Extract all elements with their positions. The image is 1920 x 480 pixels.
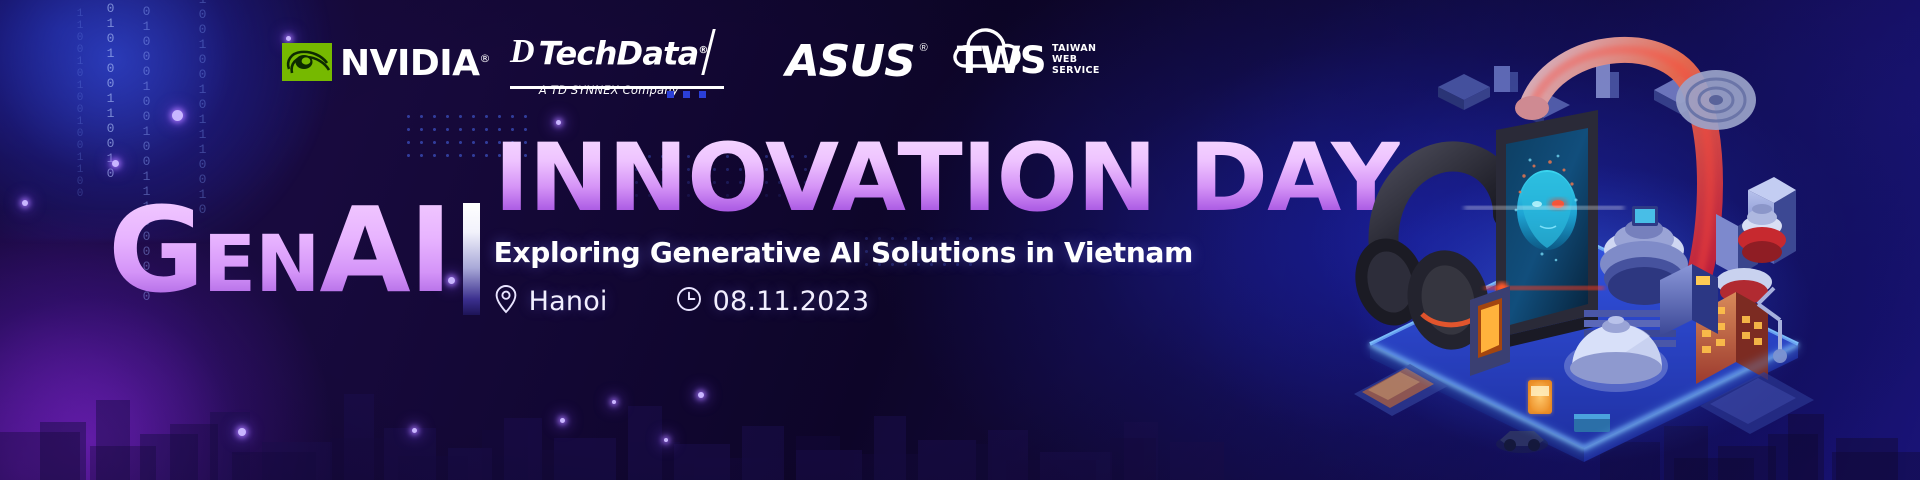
partner-logo-row: NVIDIA® D TechData® A TD SYNNEX Company … (282, 34, 1100, 97)
ai-isometric-scene (1344, 14, 1824, 474)
techdata-dots (667, 91, 706, 98)
techdata-monogram: D (510, 35, 533, 69)
sparkle (172, 110, 183, 121)
sparkle (412, 428, 417, 433)
nvidia-wordmark: NVIDIA® (340, 40, 490, 83)
event-subtitle: Exploring Generative AI Solutions in Vie… (494, 236, 1382, 269)
techdata-wordmark: TechData® (539, 34, 708, 71)
asus-logo[interactable]: ASUS ® (786, 40, 915, 84)
binary-stream-4: 1100101001001100 (74, 8, 85, 200)
sparkle (664, 438, 668, 442)
genai-brand-title: GENAI (108, 196, 451, 319)
genai-ai: AI (319, 181, 450, 319)
clock-icon (676, 286, 702, 317)
tws-tagline-line2: WEB (1052, 54, 1077, 65)
tws-tagline-line3: SERVICE (1052, 65, 1100, 76)
location-label: Hanoi (529, 286, 608, 317)
headline-block: GENAI INNOVATION DAY Exploring Generativ… (108, 134, 1381, 319)
tws-tagline-line1: TAIWAN (1052, 43, 1096, 54)
sparkle (22, 200, 28, 206)
vertical-divider (463, 203, 480, 315)
event-meta-row: Hanoi 08.11.2023 (494, 284, 1382, 319)
date-label: 08.11.2023 (713, 286, 870, 317)
sparkle (698, 392, 704, 398)
nvidia-registered-mark: ® (480, 52, 491, 65)
techdata-logo[interactable]: D TechData® A TD SYNNEX Company (510, 34, 722, 97)
location-pin-icon (494, 284, 518, 319)
techdata-underline (510, 86, 724, 89)
nvidia-logo[interactable]: NVIDIA® (282, 40, 490, 83)
event-date: 08.11.2023 (676, 286, 870, 317)
event-text-block: INNOVATION DAY Exploring Generative AI S… (494, 134, 1382, 319)
asus-registered-mark: ® (920, 42, 928, 54)
sparkle (612, 400, 616, 404)
genai-innovation-day-banner: 0010100110010 1101000100100111000010 100… (0, 0, 1920, 480)
genai-en: EN (203, 220, 320, 310)
nvidia-eye-icon (282, 43, 332, 81)
asus-wordmark: ASUS (786, 36, 915, 87)
genai-g: G (108, 181, 203, 319)
event-title: INNOVATION DAY (494, 134, 1400, 224)
sparkle (238, 428, 246, 436)
tws-wordmark: TWS (957, 42, 1045, 79)
sparkle (560, 418, 565, 423)
tws-logo[interactable]: TWS TAIWANWEBSERVICE (957, 42, 1100, 79)
event-location: Hanoi (494, 284, 608, 319)
tws-tagline: TAIWANWEBSERVICE (1052, 43, 1100, 79)
